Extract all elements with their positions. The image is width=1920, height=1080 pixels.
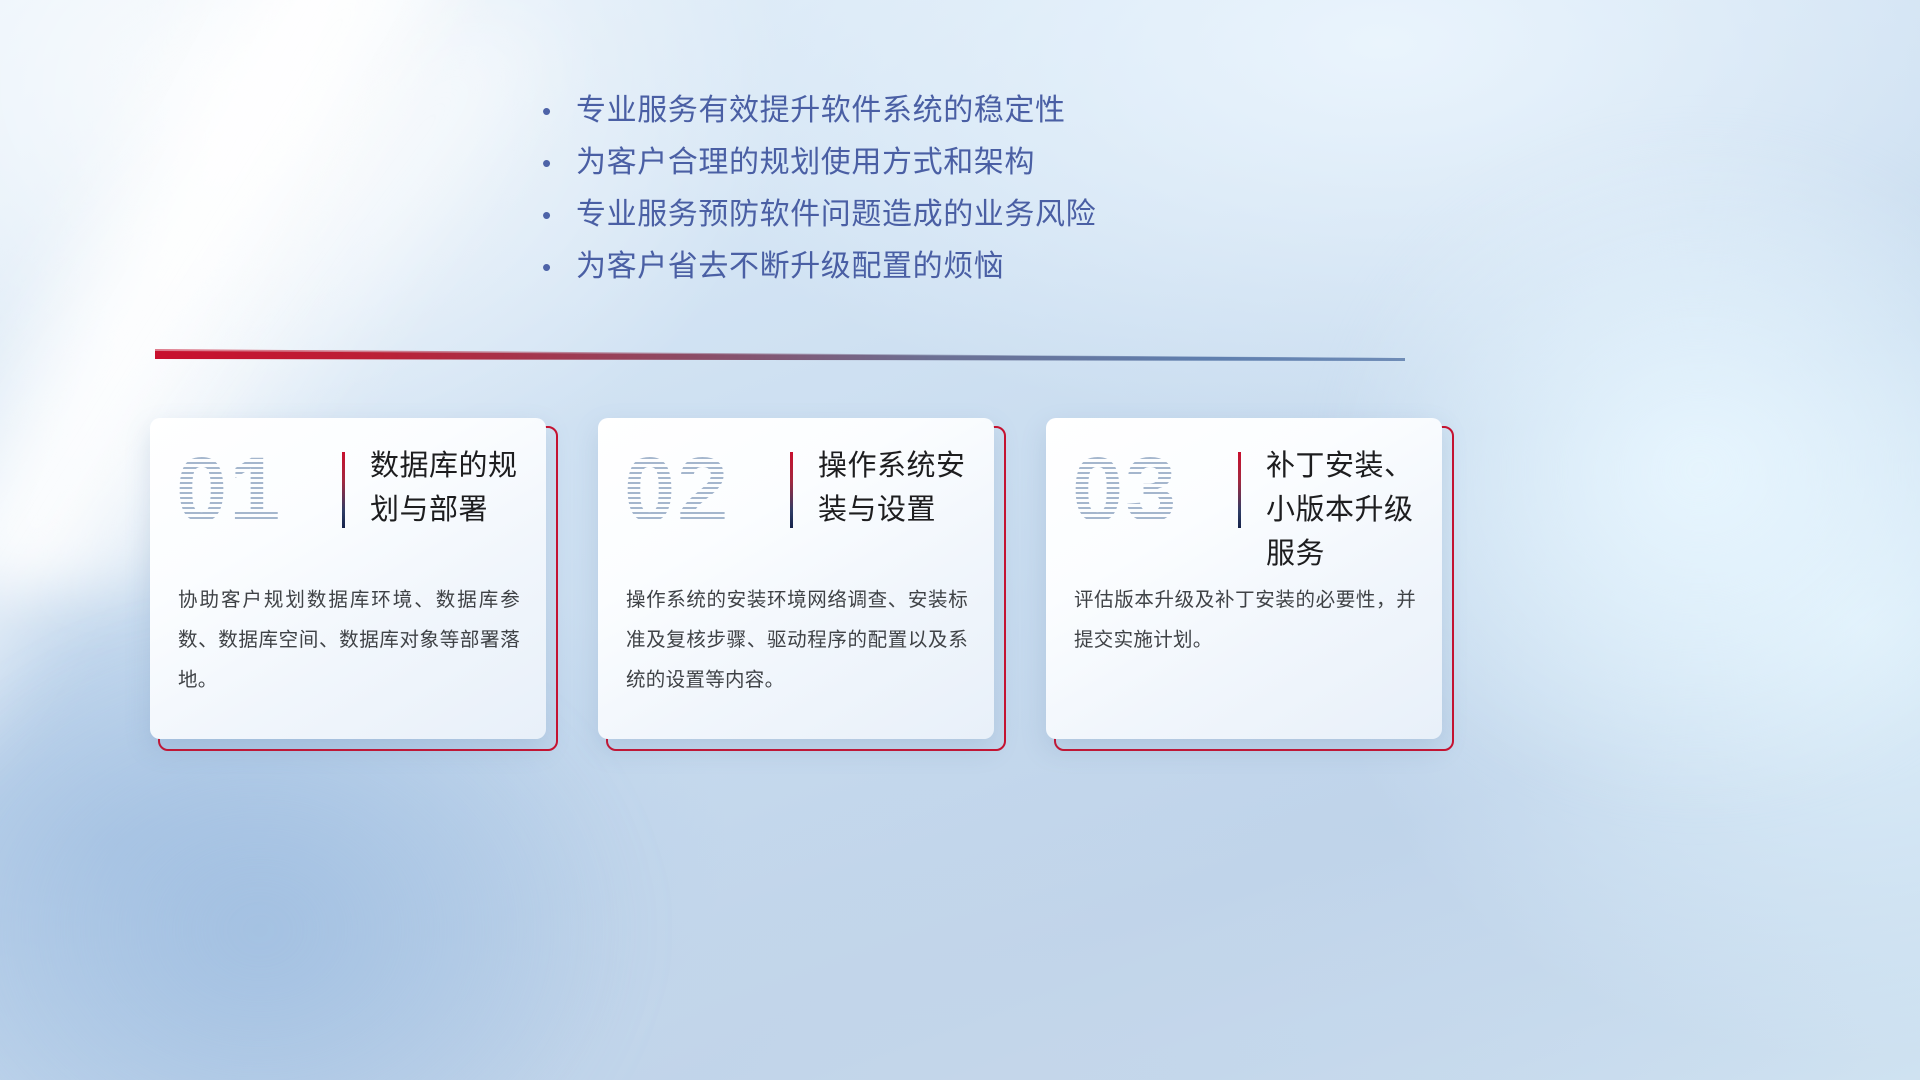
bullet-list: • 专业服务有效提升软件系统的稳定性 • 为客户合理的规划使用方式和架构 • 专… — [536, 88, 1396, 296]
card-header: 02 操作系统安装与设置 — [598, 418, 994, 566]
card-body-text: 操作系统的安装环境网络调查、安装标准及复核步骤、驱动程序的配置以及系统的设置等内… — [626, 580, 968, 700]
card-title: 数据库的规划与部署 — [370, 444, 532, 532]
list-item: • 专业服务有效提升软件系统的稳定性 — [536, 88, 1396, 140]
card-surface: 03 补丁安装、小版本升级服务 评估版本升级及补丁安装的必要性，并提交实施计划。 — [1046, 418, 1442, 739]
bullet-dot-icon: • — [536, 88, 576, 134]
card-number: 01 — [176, 442, 282, 538]
card-title: 操作系统安装与设置 — [818, 444, 980, 532]
feature-card[interactable]: 03 补丁安装、小版本升级服务 评估版本升级及补丁安装的必要性，并提交实施计划。 — [1046, 418, 1446, 743]
card-group: 01 数据库的规划与部署 协助客户规划数据库环境、数据库参数、数据库空间、数据库… — [150, 418, 1770, 758]
list-item: • 专业服务预防软件问题造成的业务风险 — [536, 192, 1396, 244]
bullet-dot-icon: • — [536, 140, 576, 186]
card-divider-bar-icon — [790, 452, 793, 528]
card-surface: 02 操作系统安装与设置 操作系统的安装环境网络调查、安装标准及复核步骤、驱动程… — [598, 418, 994, 739]
list-item: • 为客户合理的规划使用方式和架构 — [536, 140, 1396, 192]
bullet-dot-icon: • — [536, 192, 576, 238]
slide-canvas: • 专业服务有效提升软件系统的稳定性 • 为客户合理的规划使用方式和架构 • 专… — [0, 0, 1920, 1080]
card-header: 03 补丁安装、小版本升级服务 — [1046, 418, 1442, 566]
card-title: 补丁安装、小版本升级服务 — [1266, 444, 1428, 576]
feature-card[interactable]: 01 数据库的规划与部署 协助客户规划数据库环境、数据库参数、数据库空间、数据库… — [150, 418, 550, 743]
bullet-dot-icon: • — [536, 244, 576, 290]
section-divider — [155, 348, 1405, 364]
bullet-text: 为客户省去不断升级配置的烦恼 — [576, 244, 1004, 290]
card-number: 02 — [624, 442, 730, 538]
card-body-text: 评估版本升级及补丁安装的必要性，并提交实施计划。 — [1074, 580, 1416, 660]
feature-card[interactable]: 02 操作系统安装与设置 操作系统的安装环境网络调查、安装标准及复核步骤、驱动程… — [598, 418, 998, 743]
card-body-text: 协助客户规划数据库环境、数据库参数、数据库空间、数据库对象等部署落地。 — [178, 580, 520, 700]
bullet-text: 专业服务预防软件问题造成的业务风险 — [576, 192, 1096, 238]
card-divider-bar-icon — [342, 452, 345, 528]
bullet-text: 为客户合理的规划使用方式和架构 — [576, 140, 1035, 186]
card-surface: 01 数据库的规划与部署 协助客户规划数据库环境、数据库参数、数据库空间、数据库… — [150, 418, 546, 739]
bullet-text: 专业服务有效提升软件系统的稳定性 — [576, 88, 1066, 134]
list-item: • 为客户省去不断升级配置的烦恼 — [536, 244, 1396, 296]
card-header: 01 数据库的规划与部署 — [150, 418, 546, 566]
card-divider-bar-icon — [1238, 452, 1241, 528]
card-number: 03 — [1072, 442, 1178, 538]
